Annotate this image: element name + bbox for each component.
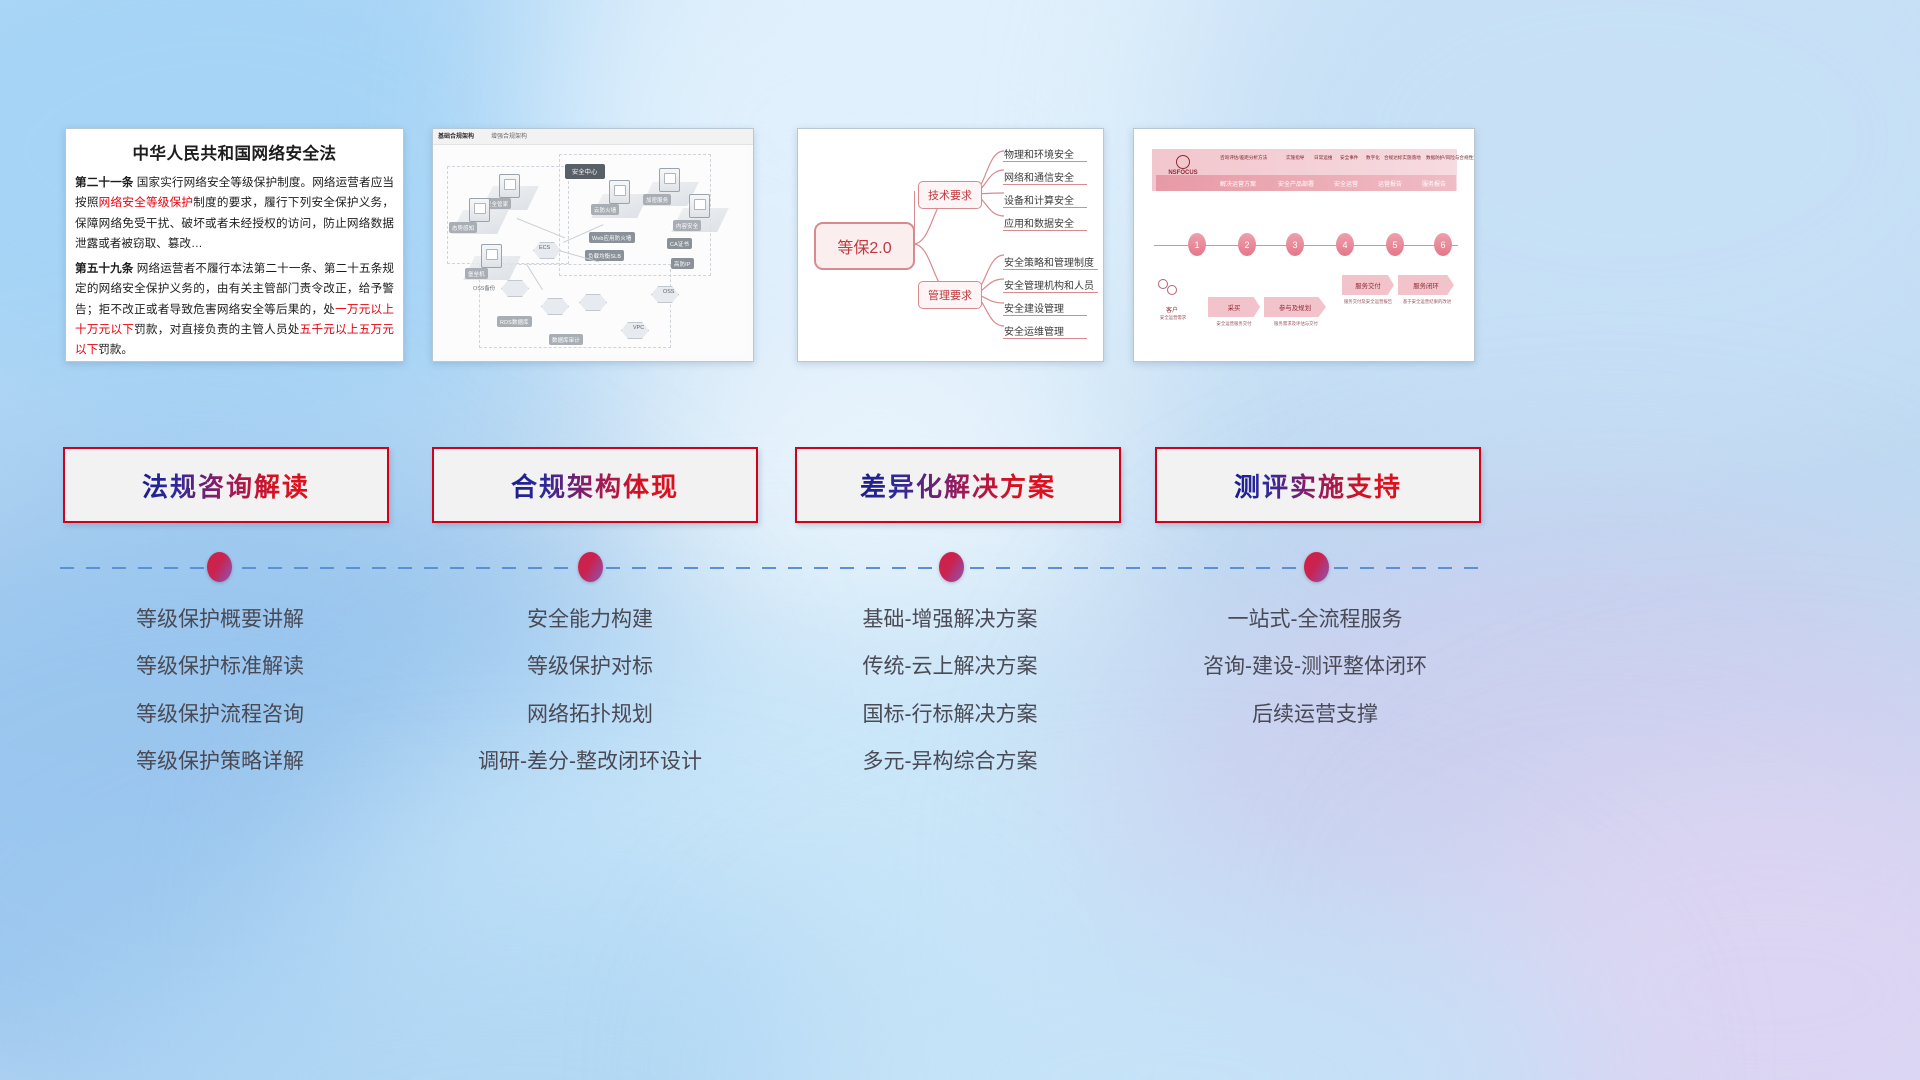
roadmap-band-item: 安全产品部署	[1278, 179, 1314, 188]
roadmap-canvas: NSFOCUS 安全专家 咨询评估/差距分析方法 实施指导 日常运维 安全事件 …	[1134, 129, 1474, 361]
banner-label: 法规咨询解读	[142, 467, 310, 504]
roadmap-step: 3	[1286, 233, 1304, 256]
banner-differentiated-solution[interactable]: 差异化解决方案	[795, 447, 1121, 523]
roadmap-arrow-sub: 安全运营服务交付	[1206, 321, 1262, 327]
mindmap-leaf-underline	[1003, 230, 1087, 231]
diagram-node-label: VPC	[633, 325, 644, 331]
diagram-node-label: CA证书	[667, 238, 692, 249]
banner-compliance-architecture[interactable]: 合规架构体现	[432, 447, 758, 523]
banner-label: 测评实施支持	[1234, 467, 1402, 504]
timeline-dot-4[interactable]	[1304, 552, 1329, 582]
list-item: 基础-增强解决方案	[780, 607, 1120, 633]
mindmap-leaf: 安全管理机构和人员	[1004, 277, 1094, 292]
roadmap-step: 2	[1238, 233, 1256, 256]
mindmap-leaf-underline	[1003, 184, 1087, 185]
banner-evaluation-support[interactable]: 测评实施支持	[1155, 447, 1481, 523]
roadmap-header-item: 数字化	[1366, 155, 1380, 161]
law-article-59-label: 第五十九条	[75, 262, 133, 275]
roadmap-step: 4	[1336, 233, 1354, 256]
timeline-dashed-line	[60, 567, 1480, 569]
diagram-node-label: 加密服务	[643, 194, 671, 205]
timeline-dot-1[interactable]	[207, 552, 232, 582]
roadmap-left-label: 客户	[1152, 305, 1192, 314]
mindmap-leaf: 应用和数据安全	[1004, 215, 1074, 230]
mindmap-leaf: 安全建设管理	[1004, 300, 1064, 315]
roadmap-band-item: 运营报告	[1378, 179, 1402, 188]
roadmap-arrow: 参与及规划	[1264, 297, 1326, 317]
banner-regulation-consulting[interactable]: 法规咨询解读	[63, 447, 389, 523]
roadmap-left-sublabel: 安全运营需求	[1146, 315, 1200, 321]
roadmap-band-item: 安全运营	[1334, 179, 1358, 188]
mindmap-leaf-underline	[1003, 315, 1087, 316]
list-item: 等级保护策略详解	[50, 749, 390, 775]
list-item: 调研-差分-整改闭环设计	[420, 749, 760, 775]
banner-label: 合规架构体现	[511, 467, 679, 504]
diagram-node-icon	[609, 180, 630, 204]
mindmap-leaf: 网络和通信安全	[1004, 169, 1074, 184]
column-compliance-architecture: 安全能力构建 等级保护对标 网络拓扑规划 调研-差分-整改闭环设计	[420, 607, 760, 796]
column-differentiated-solution: 基础-增强解决方案 传统-云上解决方案 国标-行标解决方案 多元-异构综合方案	[780, 607, 1120, 796]
mindmap-branch-technical: 技术要求	[918, 181, 982, 209]
roadmap-arrow: 服务交付	[1342, 275, 1394, 295]
roadmap-header-item: 合规达标实施落地	[1384, 155, 1421, 161]
security-center-badge: 安全中心	[565, 164, 605, 179]
list-item: 多元-异构综合方案	[780, 749, 1120, 775]
diagram-node-label: 态势感知	[449, 222, 477, 233]
list-item: 等级保护流程咨询	[50, 702, 390, 728]
diagram-node-label: ECS	[539, 245, 550, 251]
diagram-node-label: OSS	[663, 289, 674, 295]
diagram-node-label: OSS备份	[473, 284, 495, 292]
law-title: 中华人民共和国网络安全法	[66, 140, 403, 164]
roadmap-arrow: 采买	[1208, 297, 1260, 317]
mindmap-root-node: 等保2.0	[814, 222, 915, 270]
column-evaluation-support: 一站式-全流程服务 咨询-建设-测评整体闭环 后续运营支撑	[1145, 607, 1485, 749]
diagram-node-label: 内容安全	[673, 220, 701, 231]
banner-label: 差异化解决方案	[860, 467, 1056, 504]
mindmap-leaf-underline	[1003, 207, 1087, 208]
roadmap-arrow-sub: 基于安全运营结果的改进	[1396, 299, 1458, 305]
diagram-node-label: RDS数据库	[497, 316, 532, 327]
tab-basic-compliance[interactable]: 基础合规架构	[438, 131, 474, 140]
diagram-node-label: 高防IP	[671, 258, 694, 269]
list-item: 后续运营支撑	[1145, 702, 1485, 728]
roadmap-arrow-sub: 服务需求及评估与交付	[1264, 321, 1328, 327]
timeline-dot-2[interactable]	[578, 552, 603, 582]
diagram-area: 安全中心 安全管家 态势感知 堡垒机 云防火墙 加密服务 内容安全	[439, 146, 747, 355]
list-item: 一站式-全流程服务	[1145, 607, 1485, 633]
law-article-21-label: 第二十一条	[75, 176, 133, 189]
architecture-canvas: 基础合规架构 增强合规架构 安全中心 安全管家 态势感知 堡垒机 云防火墙	[433, 129, 753, 361]
diagram-node-label: 堡垒机	[465, 268, 488, 279]
diagram-node-label: 数据库审计	[549, 334, 583, 345]
customer-icon	[1158, 279, 1180, 301]
diagram-node-label: Web应用防火墙	[589, 232, 635, 243]
diagram-node-icon	[499, 174, 520, 198]
list-item: 网络拓扑规划	[420, 702, 760, 728]
mindmap-branch-management: 管理要求	[918, 281, 982, 309]
card-architecture-diagram[interactable]: 基础合规架构 增强合规架构 安全中心 安全管家 态势感知 堡垒机 云防火墙	[432, 128, 754, 362]
roadmap-header-item: 咨询评估/差距分析方法	[1220, 155, 1267, 161]
list-item: 国标-行标解决方案	[780, 702, 1120, 728]
diagram-tabbar	[433, 129, 753, 145]
roadmap-step: 6	[1434, 233, 1452, 256]
timeline-dot-3[interactable]	[939, 552, 964, 582]
mindmap-leaf-underline	[1003, 161, 1087, 162]
roadmap-band-item: 服务报告	[1422, 179, 1446, 188]
diagram-node-icon	[689, 194, 710, 218]
mindmap-canvas: 等保2.0 技术要求 管理要求 物理和环境安全 网络和通信安全 设备和计算安全	[798, 129, 1103, 361]
roadmap-arrow: 服务闭环	[1398, 275, 1454, 295]
list-item: 安全能力构建	[420, 607, 760, 633]
roadmap-header-item: 日常运维	[1314, 155, 1332, 161]
law-article-59-text-b: 罚款，对直接负责的主管人员处	[134, 323, 300, 336]
mindmap-leaf-underline	[1003, 269, 1098, 270]
roadmap-step: 1	[1188, 233, 1206, 256]
tab-enhanced-compliance[interactable]: 增强合规架构	[491, 131, 527, 140]
diagram-node-icon	[469, 198, 490, 222]
law-article-21-highlight: 网络安全等级保护	[99, 196, 194, 209]
roadmap-header-item: 实施指导	[1286, 155, 1304, 161]
card-mindmap[interactable]: 等保2.0 技术要求 管理要求 物理和环境安全 网络和通信安全 设备和计算安全	[797, 128, 1104, 362]
law-paragraph-21: 第二十一条 国家实行网络安全等级保护制度。网络运营者应当按照网络安全等级保护制度…	[75, 173, 394, 254]
mindmap-leaf: 安全策略和管理制度	[1004, 254, 1094, 269]
list-item: 等级保护标准解读	[50, 654, 390, 680]
column-regulation-consulting: 等级保护概要讲解 等级保护标准解读 等级保护流程咨询 等级保护策略详解	[50, 607, 390, 796]
mindmap-leaf: 安全运维管理	[1004, 323, 1064, 338]
roadmap-arrow-sub: 服务交付及安全运营报告	[1338, 299, 1398, 305]
list-item: 等级保护概要讲解	[50, 607, 390, 633]
mindmap-leaf-underline	[1003, 338, 1087, 339]
roadmap-header-item: 安全事件	[1340, 155, 1358, 161]
diagram-node-label: 云防火墙	[591, 204, 619, 215]
mindmap-leaf: 物理和环境安全	[1004, 146, 1074, 161]
roadmap-header-item: 数据防护/风险与合规性运营	[1426, 155, 1475, 161]
diagram-node-icon	[659, 168, 680, 192]
diagram-node-icon	[481, 244, 502, 268]
card-law-text[interactable]: 中华人民共和国网络安全法 第二十一条 国家实行网络安全等级保护制度。网络运营者应…	[65, 128, 404, 362]
law-paragraph-59: 第五十九条 网络运营者不履行本法第二十一条、第二十五条规定的网络安全保护义务的，…	[75, 259, 394, 360]
list-item: 等级保护对标	[420, 654, 760, 680]
roadmap-step: 5	[1386, 233, 1404, 256]
list-item: 传统-云上解决方案	[780, 654, 1120, 680]
slide-canvas: 中华人民共和国网络安全法 第二十一条 国家实行网络安全等级保护制度。网络运营者应…	[0, 0, 1920, 1080]
card-roadmap[interactable]: NSFOCUS 安全专家 咨询评估/差距分析方法 实施指导 日常运维 安全事件 …	[1133, 128, 1475, 362]
law-body: 第二十一条 国家实行网络安全等级保护制度。网络运营者应当按照网络安全等级保护制度…	[66, 173, 403, 361]
mindmap-leaf: 设备和计算安全	[1004, 192, 1074, 207]
list-item: 咨询-建设-测评整体闭环	[1145, 654, 1485, 680]
roadmap-band-item: 解决运营方案	[1220, 179, 1256, 188]
person-icon	[1176, 155, 1190, 169]
person-head-icon	[1167, 285, 1177, 295]
law-article-59-text-c: 罚款。	[98, 343, 133, 356]
mindmap-leaf-underline	[1003, 292, 1098, 293]
